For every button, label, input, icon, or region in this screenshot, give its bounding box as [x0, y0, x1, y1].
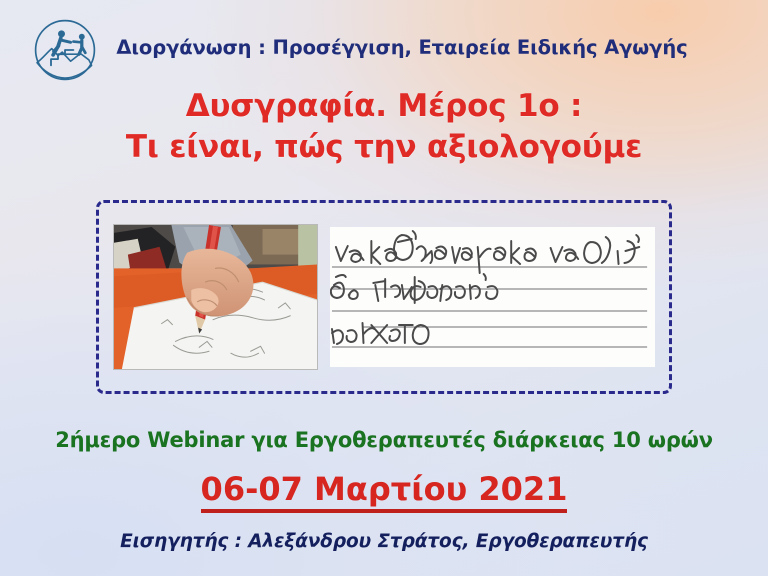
event-date-row: 06-07 Μαρτίου 2021 [0, 470, 768, 513]
speaker-line: Εισηγητής : Αλεξάνδρου Στράτος, Εργοθερα… [0, 531, 768, 552]
webinar-poster: Διοργάνωση : Προσέγγιση, Εταιρεία Ειδική… [0, 0, 768, 576]
title-line-1: Δυσγραφία. Μέρος 1ο : [0, 86, 768, 127]
handwriting-sample [330, 227, 655, 367]
organizer-line: Διοργάνωση : Προσέγγιση, Εταιρεία Ειδική… [0, 36, 768, 59]
child-writing-photo [113, 224, 318, 370]
media-frame [96, 200, 672, 394]
photo-illustration-icon [114, 225, 317, 369]
media-inner [99, 203, 669, 391]
handwriting-illustration-icon [330, 227, 655, 367]
event-date: 06-07 Μαρτίου 2021 [201, 470, 568, 513]
webinar-description: 2ήμερο Webinar για Εργοθεραπευτές διάρκε… [0, 428, 768, 452]
title-line-2: Τι είναι, πώς την αξιολογούμε [0, 127, 768, 168]
page-title: Δυσγραφία. Μέρος 1ο : Τι είναι, πώς την … [0, 86, 768, 168]
